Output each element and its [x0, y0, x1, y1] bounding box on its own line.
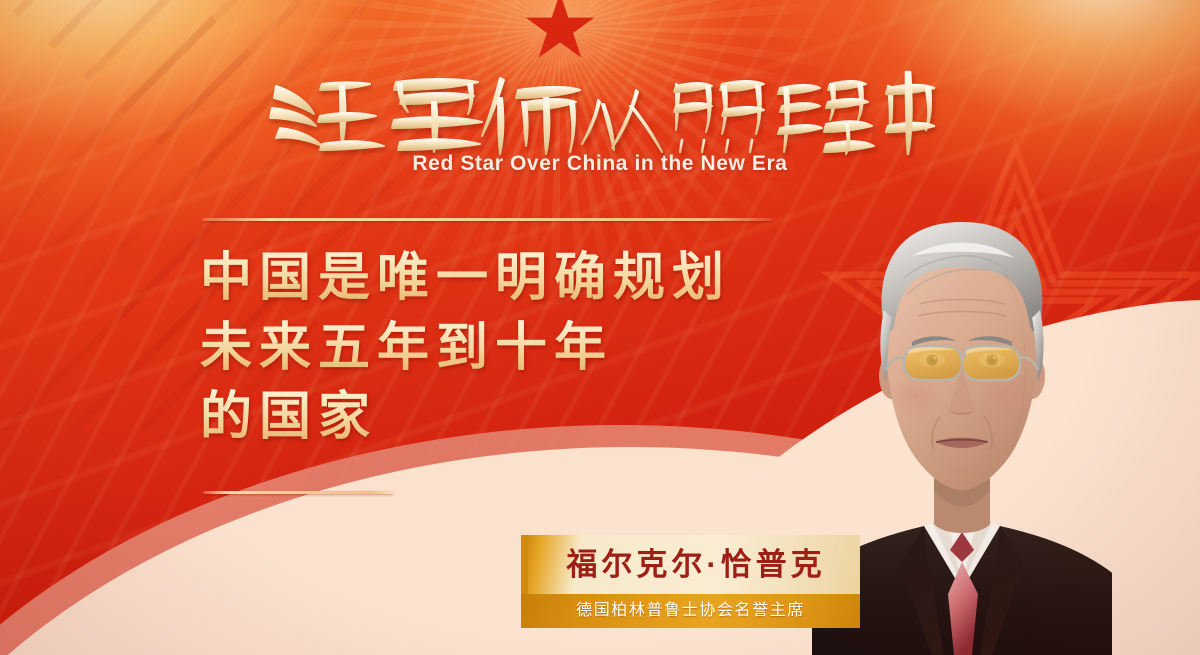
poster-canvas: Red Star Over China in the New Era 中国是唯一… [0, 0, 1200, 655]
quote-line-1: 中国是唯一明确规划 [200, 244, 820, 314]
subtitle-english: Red Star Over China in the New Era [0, 152, 1200, 176]
speaker-title-bar: 德国柏林普鲁士协会名誉主席 [521, 594, 860, 628]
poster-content: Red Star Over China in the New Era 中国是唯一… [0, 0, 1200, 655]
speaker-name: 福尔克尔·恰普克 [562, 549, 825, 580]
masthead: Red Star Over China in the New Era [0, 58, 1200, 176]
divider-bottom [203, 491, 393, 494]
quote-block: 中国是唯一明确规划 未来五年到十年 的国家 [200, 244, 820, 453]
divider-top [202, 218, 772, 221]
calligraphy-title [260, 58, 940, 158]
speaker-nameplate: 福尔克尔·恰普克 德国柏林普鲁士协会名誉主席 [521, 535, 860, 628]
quote-line-3: 的国家 [200, 383, 820, 453]
quote-line-2: 未来五年到十年 [200, 314, 820, 384]
speaker-name-bar: 福尔克尔·恰普克 [521, 535, 860, 594]
speaker-title: 德国柏林普鲁士协会名誉主席 [576, 603, 805, 619]
